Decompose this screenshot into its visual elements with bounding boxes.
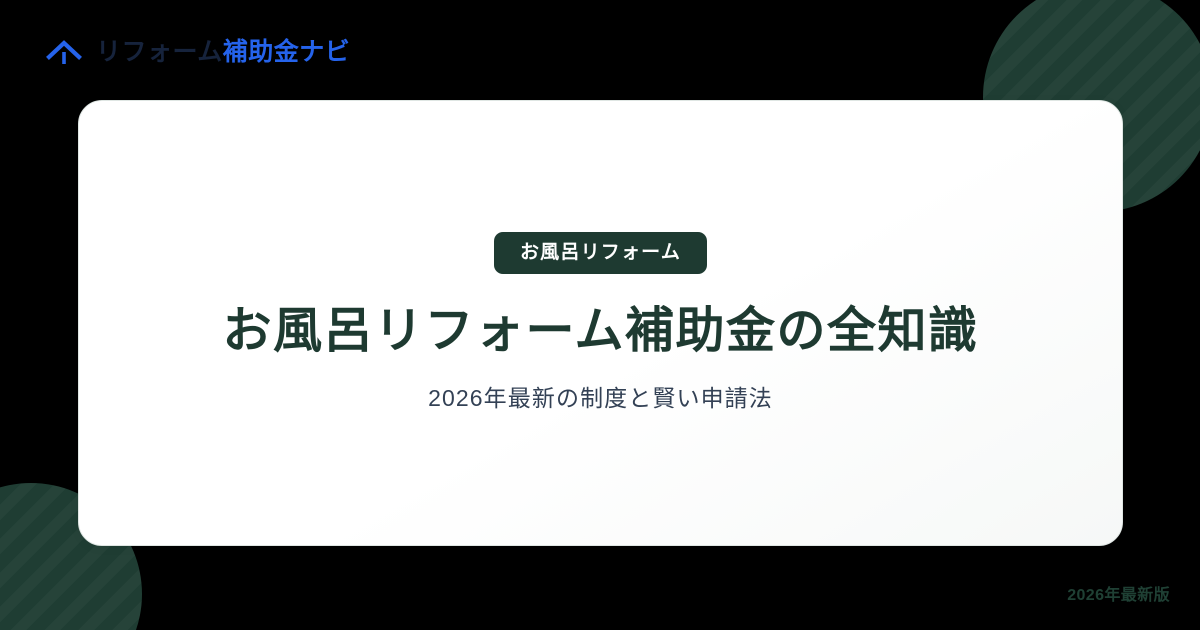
home-arrow-up-icon	[44, 32, 84, 72]
page-subtitle: 2026年最新の制度と賢い申請法	[428, 382, 773, 414]
brand-wordmark: リフォーム補助金ナビ	[96, 40, 350, 65]
edition-note: 2026年最新版	[1067, 588, 1170, 604]
hero-card: お風呂リフォーム お風呂リフォーム補助金の全知識 2026年最新の制度と賢い申請…	[78, 100, 1123, 546]
og-banner-canvas: リフォーム補助金ナビ お風呂リフォーム お風呂リフォーム補助金の全知識 2026…	[0, 0, 1200, 630]
brand-logo[interactable]: リフォーム補助金ナビ	[44, 28, 350, 76]
category-badge: お風呂リフォーム	[494, 232, 707, 274]
brand-name-accent: 補助金ナビ	[223, 38, 351, 66]
brand-name-primary: リフォーム	[96, 38, 223, 66]
page-title: お風呂リフォーム補助金の全知識	[222, 303, 978, 361]
